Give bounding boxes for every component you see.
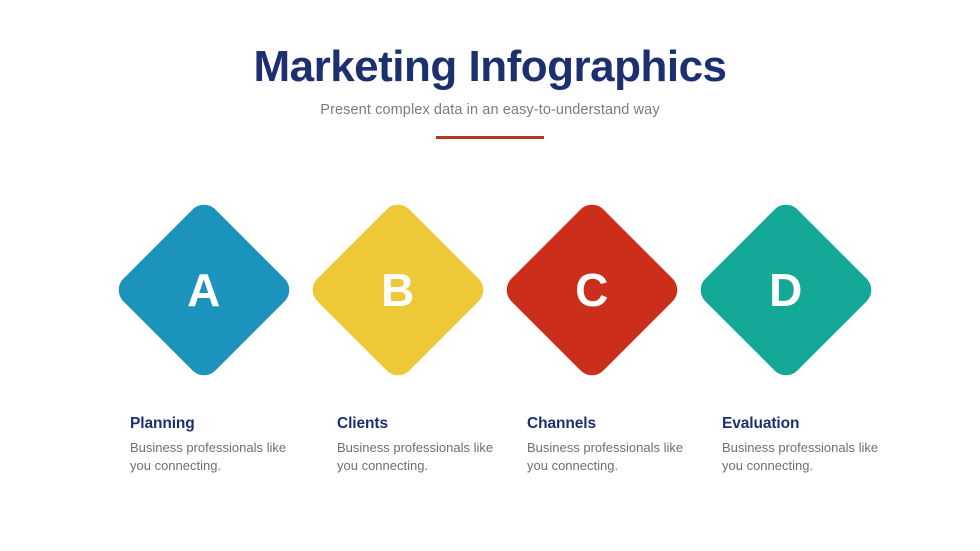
caption-block-planning: Planning Business professionals like you…: [130, 414, 310, 475]
diamond-a[interactable]: A: [112, 198, 296, 382]
caption-block-channels: Channels Business professionals like you…: [527, 414, 707, 475]
caption-title-channels: Channels: [527, 414, 707, 434]
page-title: Marketing Infographics: [0, 40, 980, 94]
caption-body-channels: Business professionals like you connecti…: [527, 439, 687, 475]
caption-title-planning: Planning: [130, 414, 310, 434]
caption-title-evaluation: Evaluation: [722, 414, 902, 434]
caption-row: Planning Business professionals like you…: [0, 414, 980, 504]
caption-body-clients: Business professionals like you connecti…: [337, 439, 497, 475]
diamond-b[interactable]: B: [306, 198, 490, 382]
caption-body-evaluation: Business professionals like you connecti…: [722, 439, 882, 475]
diamond-letter-a: A: [112, 198, 296, 382]
diamond-row: A B C D: [0, 198, 980, 388]
step-item-a[interactable]: A: [106, 198, 302, 388]
caption-title-clients: Clients: [337, 414, 517, 434]
step-item-d[interactable]: D: [688, 198, 884, 388]
diamond-c[interactable]: C: [500, 198, 684, 382]
caption-block-clients: Clients Business professionals like you …: [337, 414, 517, 475]
infographic-slide: Marketing Infographics Present complex d…: [0, 0, 980, 551]
diamond-d[interactable]: D: [694, 198, 878, 382]
diamond-letter-d: D: [694, 198, 878, 382]
step-item-c[interactable]: C: [494, 198, 690, 388]
diamond-letter-c: C: [500, 198, 684, 382]
slide-header: Marketing Infographics Present complex d…: [0, 40, 980, 139]
caption-body-planning: Business professionals like you connecti…: [130, 439, 290, 475]
step-item-b[interactable]: B: [300, 198, 496, 388]
page-subtitle: Present complex data in an easy-to-under…: [0, 100, 980, 120]
diamond-letter-b: B: [306, 198, 490, 382]
caption-block-evaluation: Evaluation Business professionals like y…: [722, 414, 902, 475]
title-divider: [436, 136, 544, 139]
